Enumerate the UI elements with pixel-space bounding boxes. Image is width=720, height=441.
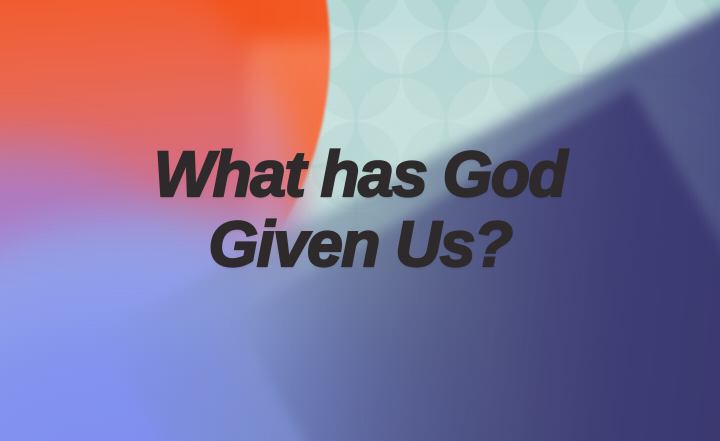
film-grain-overlay: [0, 0, 720, 441]
title-slide: What has God Given Us?: [0, 0, 720, 441]
